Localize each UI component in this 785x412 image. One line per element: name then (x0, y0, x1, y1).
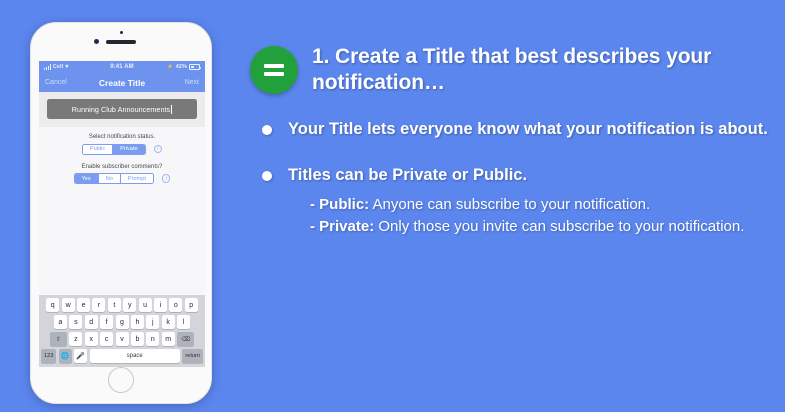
status-bar: Cell ▾ 9:41 AM ⚡ 42% (39, 61, 205, 73)
title-input-zone: Running Club Announcements (39, 92, 205, 127)
sub-item-private-text: Only those you invite can subscribe to y… (374, 218, 744, 235)
space-key[interactable]: space (90, 349, 180, 363)
key-p[interactable]: p (185, 298, 198, 312)
phone-screen: Cell ▾ 9:41 AM ⚡ 42% Cancel Create Title… (39, 61, 205, 367)
carrier-label: Cell (53, 64, 64, 70)
proximity-sensor-icon (120, 31, 123, 34)
key-w[interactable]: w (62, 298, 75, 312)
subscriber-comments-segmented-control[interactable]: Yes No Prompt (74, 173, 154, 184)
equals-icon (264, 64, 284, 76)
sub-item-public: - Public: Anyone can subscribe to your n… (310, 195, 771, 216)
key-v[interactable]: v (116, 332, 129, 346)
page-title: 1. Create a Title that best describes yo… (312, 44, 765, 96)
wifi-icon: ▾ (65, 64, 68, 70)
segment-yes[interactable]: Yes (75, 174, 99, 183)
front-camera-icon (94, 39, 99, 44)
notification-status-segmented-control[interactable]: Public Private (82, 144, 146, 155)
segment-public[interactable]: Public (83, 145, 113, 154)
keyboard-row-4: 123 🌐 🎤 space return (41, 349, 203, 363)
nav-bar: Cancel Create Title Next (39, 73, 205, 92)
key-g[interactable]: g (116, 315, 129, 329)
key-y[interactable]: y (123, 298, 136, 312)
status-section-label: Select notification status. (39, 134, 205, 140)
numbers-key[interactable]: 123 (41, 349, 56, 363)
comments-section-label: Enable subscriber comments? (39, 164, 205, 170)
info-icon-status[interactable]: i (154, 145, 163, 154)
battery-icon (189, 64, 200, 70)
key-o[interactable]: o (169, 298, 182, 312)
title-input-value: Running Club Announcements (72, 105, 170, 114)
sub-item-private-term: - Private: (310, 218, 374, 235)
phone-top-bezel (31, 23, 211, 61)
on-screen-keyboard[interactable]: q w e r t y u i o p a s d f g h j k l (39, 295, 205, 367)
key-x[interactable]: x (85, 332, 98, 346)
nav-title: Create Title (99, 78, 145, 88)
key-n[interactable]: n (146, 332, 159, 346)
key-t[interactable]: t (108, 298, 121, 312)
key-l[interactable]: l (177, 315, 190, 329)
key-a[interactable]: a (54, 315, 67, 329)
title-input[interactable]: Running Club Announcements (47, 99, 197, 119)
key-r[interactable]: r (92, 298, 105, 312)
bullet-text-2: Titles can be Private or Public. (288, 164, 527, 186)
charging-bolt-icon: ⚡ (167, 64, 173, 70)
key-q[interactable]: q (46, 298, 59, 312)
status-segmented-row: Public Private i (39, 144, 205, 155)
segment-prompt[interactable]: Prompt (121, 174, 153, 183)
instruction-panel: 1. Create a Title that best describes yo… (240, 0, 785, 412)
list-item: Titles can be Private or Public. (262, 164, 771, 186)
key-m[interactable]: m (162, 332, 175, 346)
key-j[interactable]: j (146, 315, 159, 329)
keyboard-row-1: q w e r t y u i o p (41, 298, 203, 312)
bullet-text-1: Your Title lets everyone know what your … (288, 118, 768, 140)
bullet-list: Your Title lets everyone know what your … (240, 96, 785, 238)
step-badge (250, 46, 298, 94)
key-d[interactable]: d (85, 315, 98, 329)
comments-segmented-row: Yes No Prompt i (39, 173, 205, 184)
battery-percent-label: 42% (176, 64, 187, 70)
list-item: Your Title lets everyone know what your … (262, 118, 771, 140)
keyboard-row-2: a s d f g h j k l (41, 315, 203, 329)
key-z[interactable]: z (69, 332, 82, 346)
home-button[interactable] (108, 367, 134, 393)
iphone-mockup: Cell ▾ 9:41 AM ⚡ 42% Cancel Create Title… (30, 22, 212, 404)
key-i[interactable]: i (154, 298, 167, 312)
key-s[interactable]: s (69, 315, 82, 329)
key-e[interactable]: e (77, 298, 90, 312)
headline-row: 1. Create a Title that best describes yo… (240, 0, 785, 96)
text-caret (171, 105, 172, 114)
keyboard-row-3: ⇧ z x c v b n m ⌫ (41, 332, 203, 346)
microphone-icon[interactable]: 🎤 (74, 349, 87, 363)
key-u[interactable]: u (139, 298, 152, 312)
key-f[interactable]: f (100, 315, 113, 329)
cancel-button[interactable]: Cancel (45, 79, 75, 86)
status-bar-right: ⚡ 42% (134, 64, 200, 70)
return-key[interactable]: return (182, 349, 203, 363)
backspace-key-icon[interactable]: ⌫ (177, 332, 194, 346)
status-bar-time: 9:41 AM (110, 64, 133, 70)
key-h[interactable]: h (131, 315, 144, 329)
next-button[interactable]: Next (169, 79, 199, 86)
key-c[interactable]: c (100, 332, 113, 346)
sub-item-private: - Private: Only those you invite can sub… (310, 217, 771, 238)
key-k[interactable]: k (162, 315, 175, 329)
segment-no[interactable]: No (99, 174, 121, 183)
bullet-dot-icon (262, 125, 272, 135)
info-icon-comments[interactable]: i (162, 174, 171, 183)
options-section: Select notification status. Public Priva… (39, 127, 205, 184)
shift-key-icon[interactable]: ⇧ (50, 332, 67, 346)
segment-private[interactable]: Private (113, 145, 144, 154)
signal-strength-icon (44, 64, 51, 70)
globe-icon[interactable]: 🌐 (59, 349, 72, 363)
bullet-dot-icon (262, 171, 272, 181)
earpiece-speaker-icon (106, 40, 136, 44)
status-bar-left: Cell ▾ (44, 64, 110, 70)
sub-item-list: - Public: Anyone can subscribe to your n… (262, 195, 771, 238)
key-b[interactable]: b (131, 332, 144, 346)
sub-item-public-text: Anyone can subscribe to your notificatio… (369, 196, 650, 213)
sub-item-public-term: - Public: (310, 196, 369, 213)
